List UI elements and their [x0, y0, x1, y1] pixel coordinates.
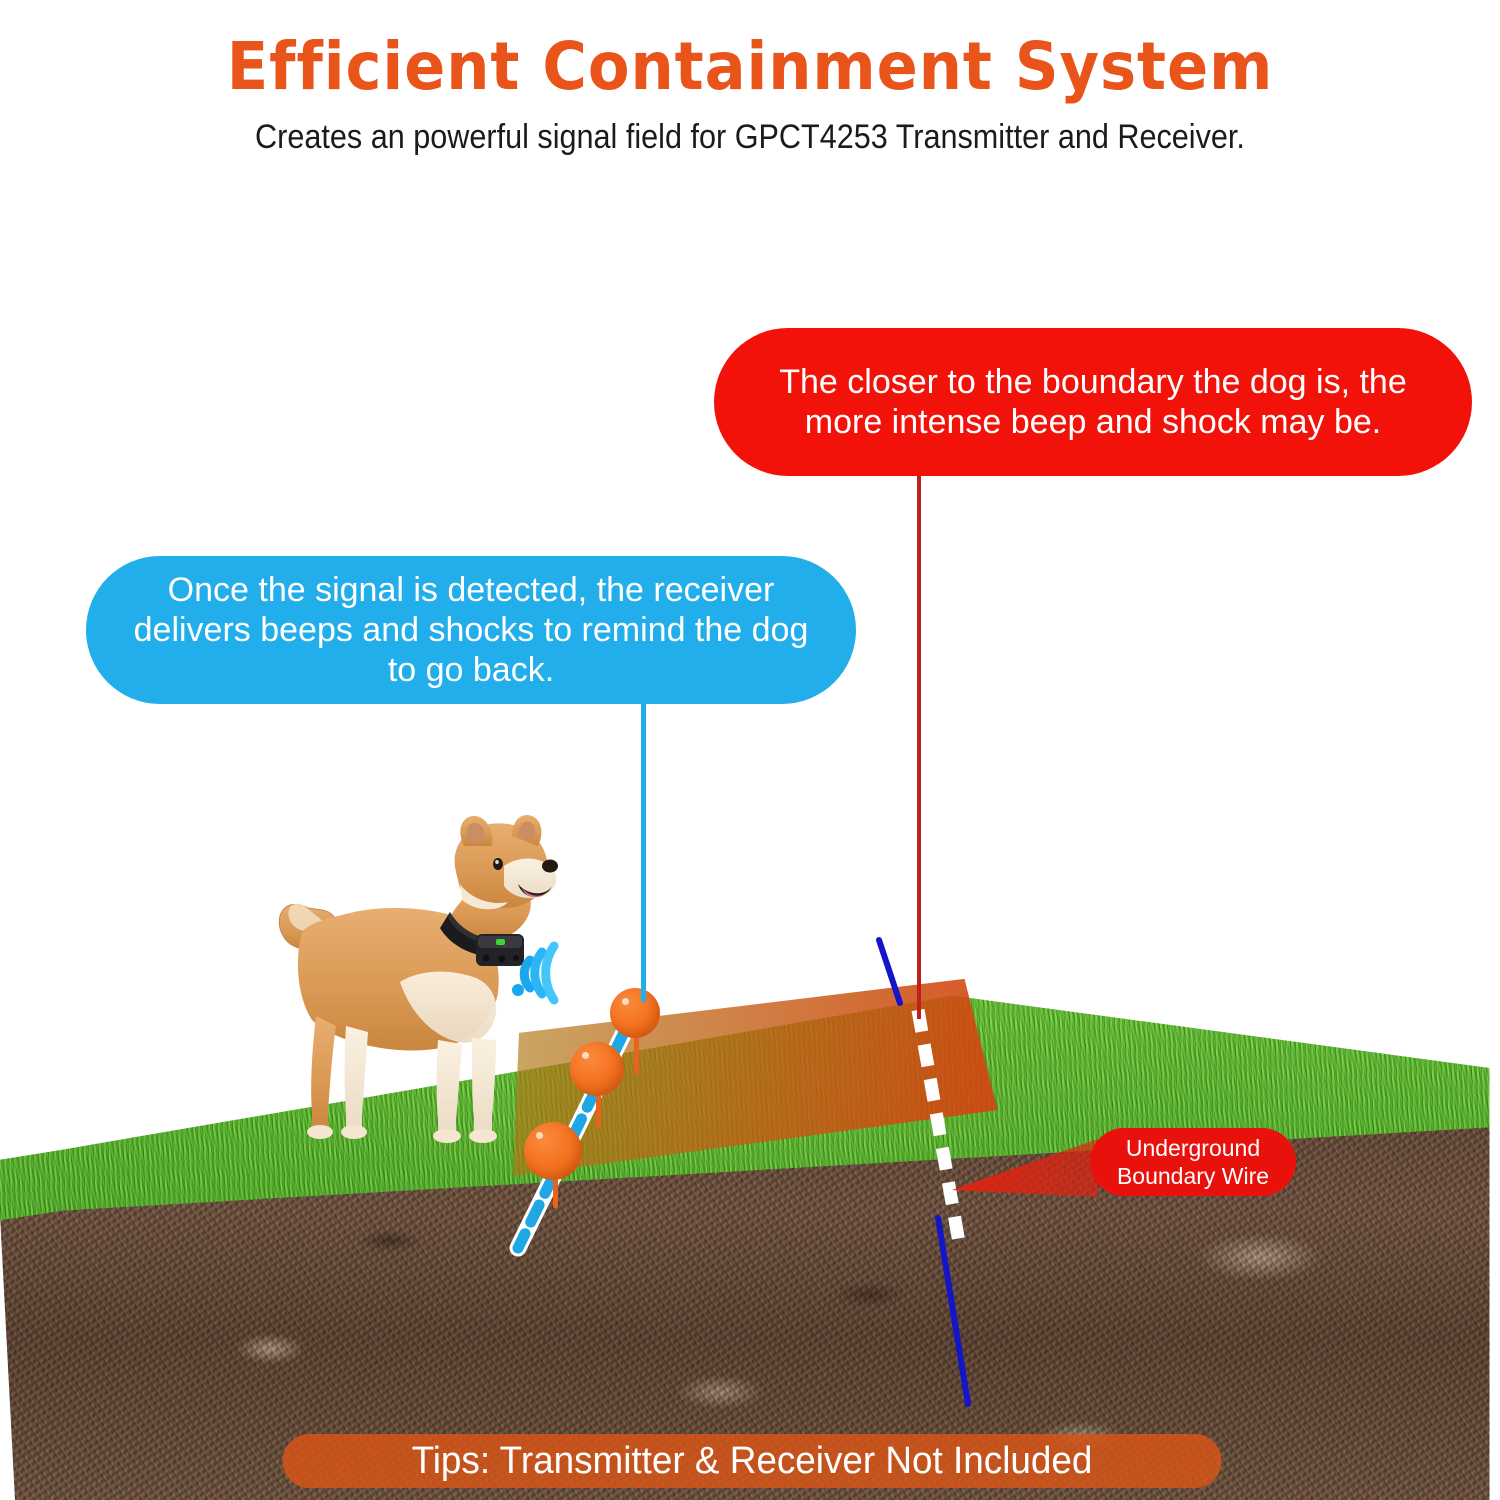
infographic-canvas: Efficient Containment System Creates an …: [0, 0, 1500, 1500]
wire-stub-icon: [0, 0, 1500, 1500]
tips-banner: Tips: Transmitter & Receiver Not Include…: [283, 1434, 1222, 1488]
label-underground-boundary-wire: Underground Boundary Wire: [1090, 1128, 1296, 1196]
flag-highlight: [622, 998, 629, 1005]
red-callout-leader-line: [917, 474, 921, 1019]
blue-callout-leader-line: [641, 702, 646, 1002]
callout-boundary-intensity: The closer to the boundary the dog is, t…: [714, 328, 1472, 476]
flag-head: [610, 988, 660, 1038]
callout-receiver-behavior: Once the signal is detected, the receive…: [86, 556, 856, 704]
boundary-flag-marker: [610, 988, 662, 1068]
shiba-inu-dog-icon: [250, 812, 580, 1150]
flag-highlight: [582, 1052, 589, 1059]
